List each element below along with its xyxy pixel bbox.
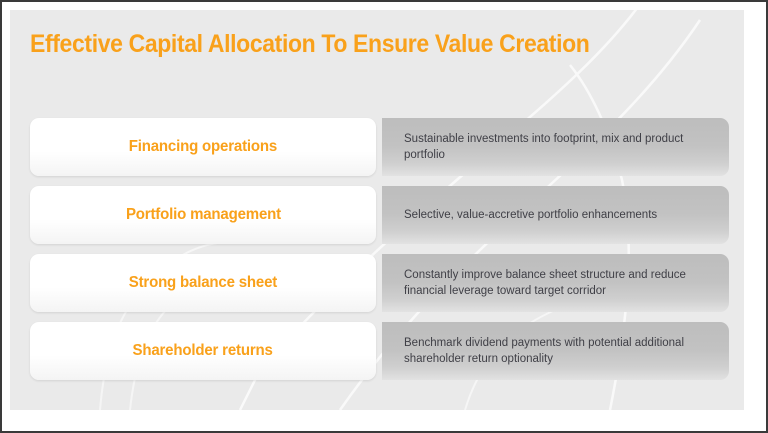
table-row: Financing operations Sustainable investm… [10,114,744,180]
table-row: Strong balance sheet Constantly improve … [10,250,744,316]
row-description-text: Constantly improve balance sheet structu… [404,267,713,299]
row-label-card-portfolio-management[interactable]: Portfolio management [30,186,376,244]
row-description-panel-strong-balance-sheet: Constantly improve balance sheet structu… [382,254,729,312]
row-label-text: Financing operations [129,138,277,156]
page-title: Effective Capital Allocation To Ensure V… [30,30,589,59]
row-label-text: Strong balance sheet [129,274,277,292]
table-row: Portfolio management Selective, value-ac… [10,182,744,248]
capital-allocation-rows: Financing operations Sustainable investm… [10,114,744,386]
row-label-text: Shareholder returns [133,342,273,360]
slide-frame: Effective Capital Allocation To Ensure V… [0,0,768,433]
row-description-text: Selective, value-accretive portfolio enh… [404,207,657,223]
row-description-text: Benchmark dividend payments with potenti… [404,335,713,367]
row-description-panel-financing-operations: Sustainable investments into footprint, … [382,118,729,176]
row-label-card-financing-operations[interactable]: Financing operations [30,118,376,176]
row-label-text: Portfolio management [125,206,280,224]
row-description-text: Sustainable investments into footprint, … [404,131,713,163]
row-label-card-strong-balance-sheet[interactable]: Strong balance sheet [30,254,376,312]
table-row: Shareholder returns Benchmark dividend p… [10,318,744,384]
slide-canvas: Effective Capital Allocation To Ensure V… [10,10,744,410]
row-label-card-shareholder-returns[interactable]: Shareholder returns [30,322,376,380]
row-description-panel-shareholder-returns: Benchmark dividend payments with potenti… [382,322,729,380]
row-description-panel-portfolio-management: Selective, value-accretive portfolio enh… [382,186,729,244]
